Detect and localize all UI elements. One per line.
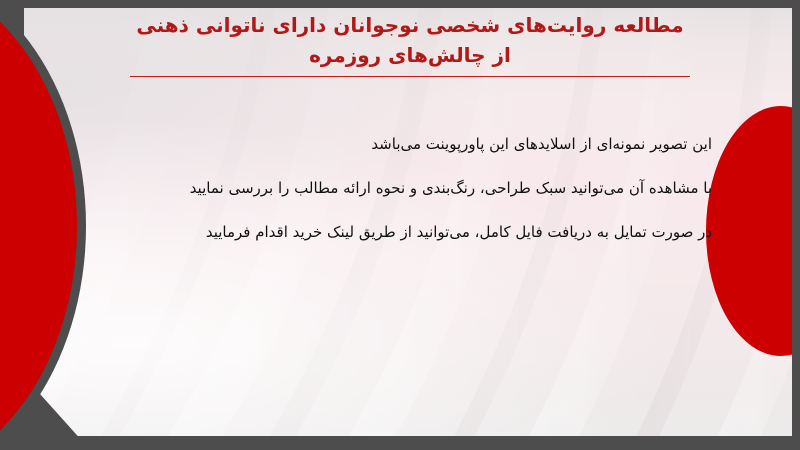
page-title: مطالعه روایت‌های شخصی نوجوانان دارای نات… [120,10,700,70]
body-text-line-3: در صورت تمایل به دریافت فایل کامل، می‌تو… [120,210,712,254]
page-title-line-2: از چالش‌های روزمره [120,40,700,70]
decorative-red-ellipse-right [706,106,792,356]
page-title-line-1: مطالعه روایت‌های شخصی نوجوانان دارای نات… [120,10,700,40]
body-text: این تصویر نمونه‌ای از اسلایدهای این پاور… [120,122,712,254]
body-text-line-2: با مشاهده آن می‌توانید سبک طراحی، رنگ‌بن… [120,166,712,210]
slide: مطالعه روایت‌های شخصی نوجوانان دارای نات… [0,0,800,450]
title-underline-rule [130,76,690,77]
body-text-line-1: این تصویر نمونه‌ای از اسلایدهای این پاور… [120,122,712,166]
